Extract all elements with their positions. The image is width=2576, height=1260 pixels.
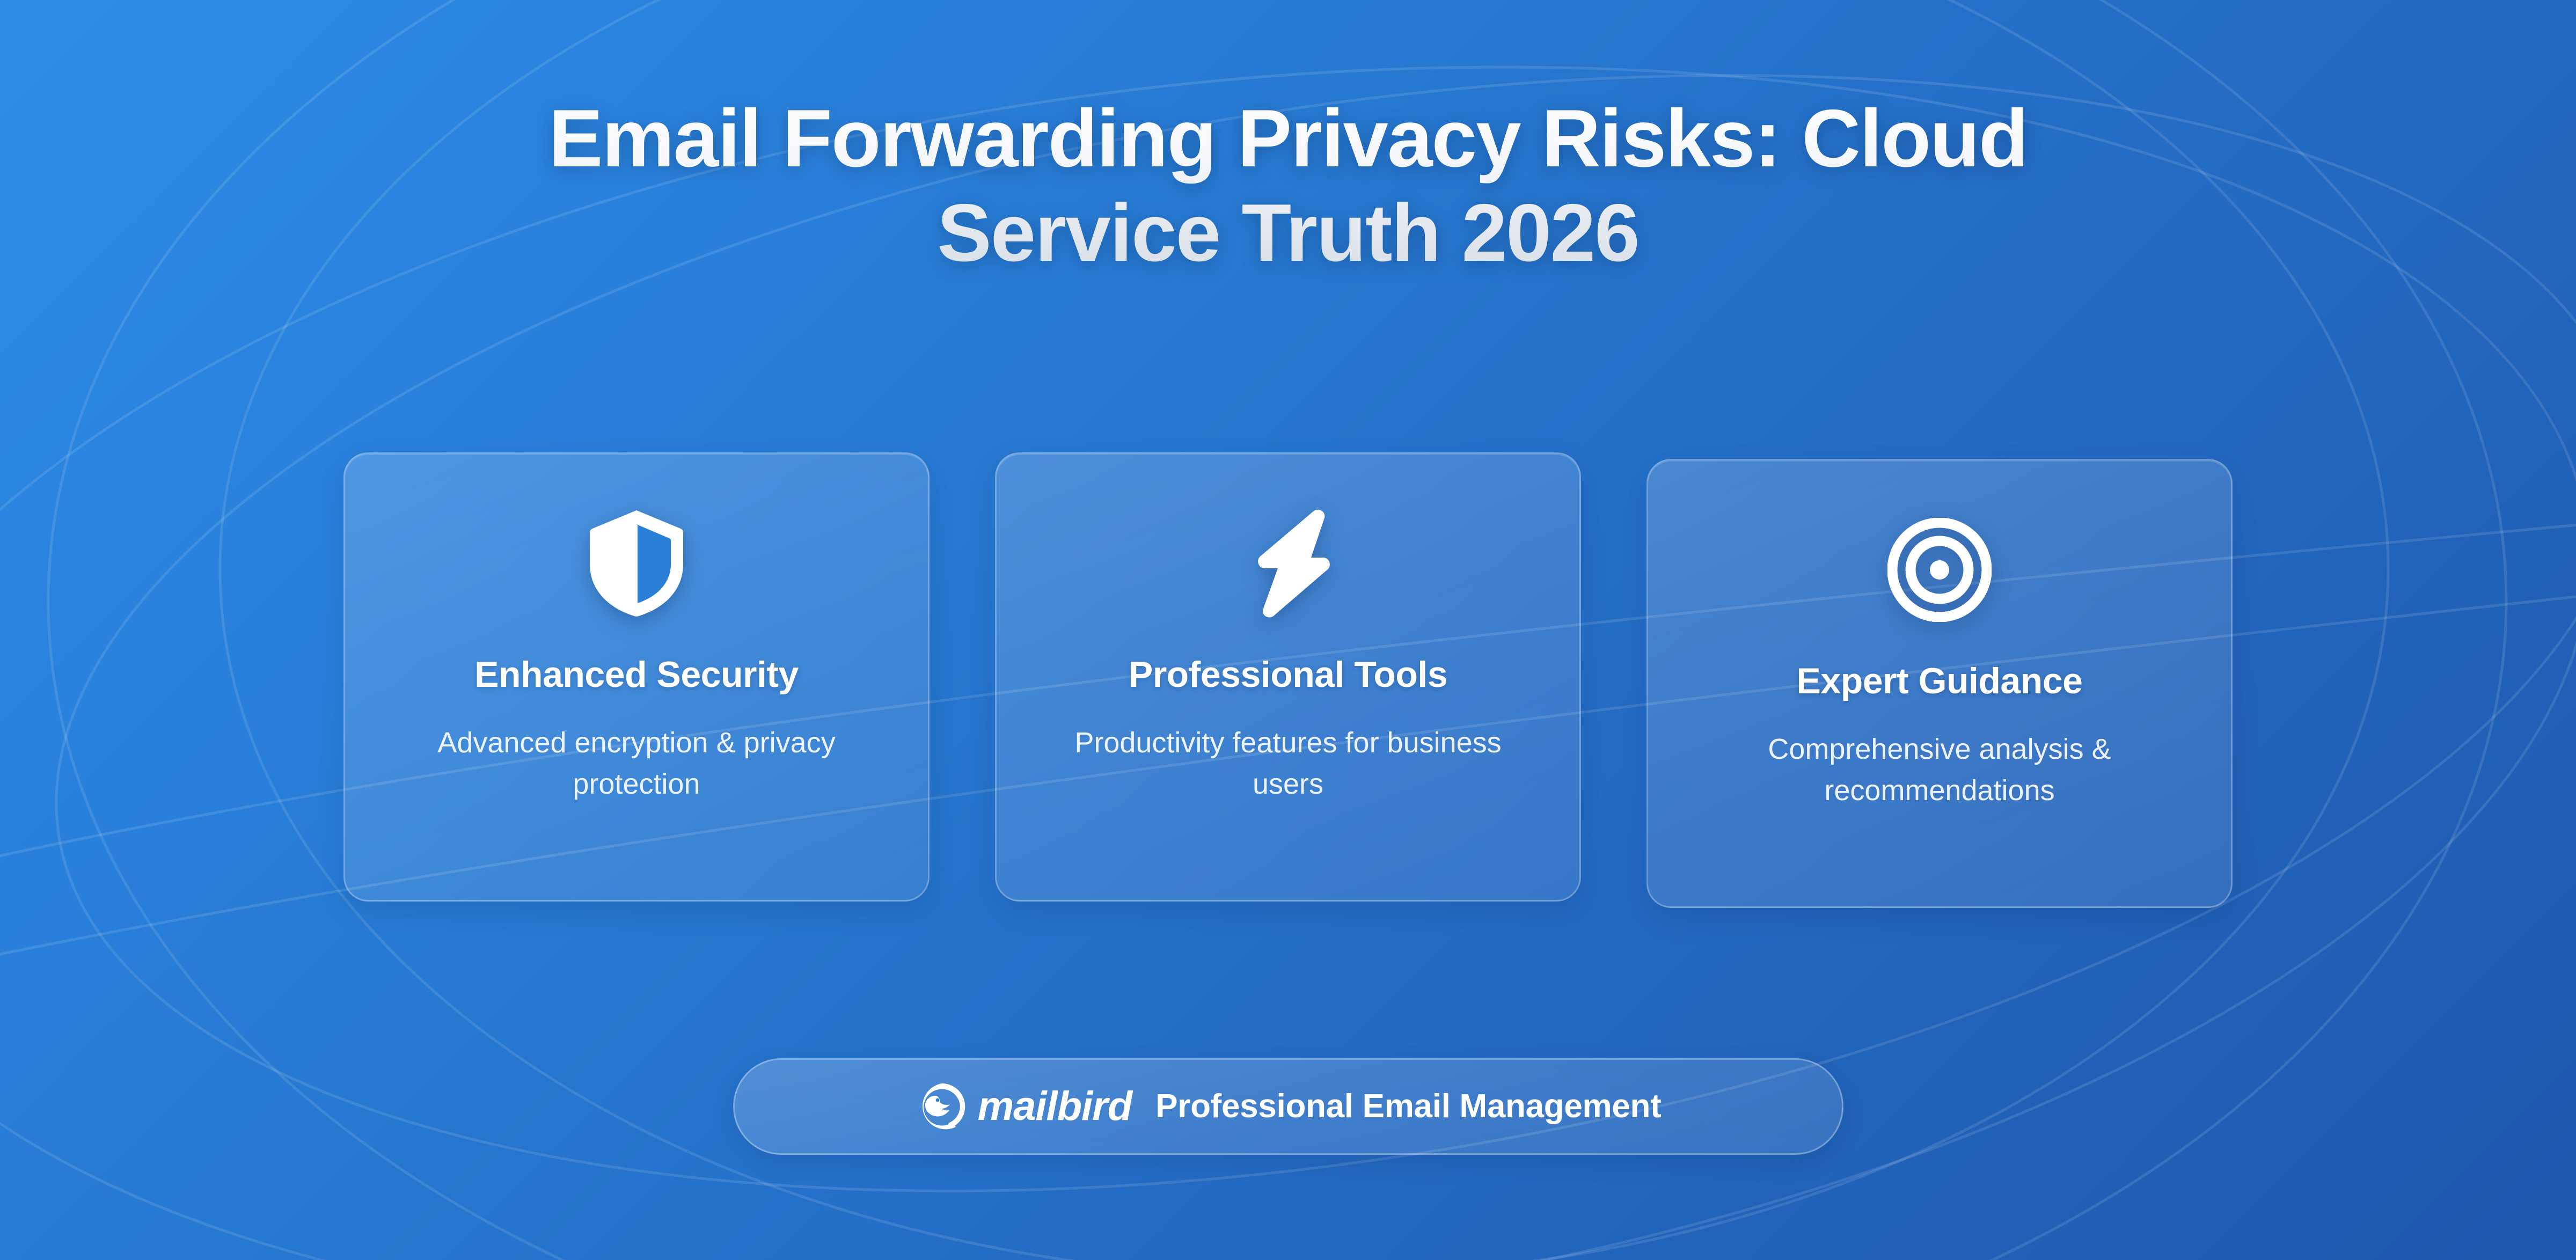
target-icon — [1883, 513, 1996, 627]
mailbird-wordmark: mailbird — [978, 1086, 1132, 1127]
feature-card-professional-tools[interactable]: Professional Tools Productivity features… — [995, 452, 1581, 902]
feature-card-expert-guidance[interactable]: Expert Guidance Comprehensive analysis &… — [1646, 459, 2233, 908]
hero-banner: Email Forwarding Privacy Risks: Cloud Se… — [0, 0, 2576, 1260]
lightning-bolt-icon — [1231, 507, 1345, 620]
page-title: Email Forwarding Privacy Risks: Cloud Se… — [402, 91, 2173, 281]
mailbird-bird-logo-icon — [916, 1080, 968, 1133]
feature-card-enhanced-security[interactable]: Enhanced Security Advanced encryption & … — [343, 452, 930, 902]
brand-badge[interactable]: mailbird Professional Email Management — [733, 1058, 1843, 1155]
feature-card-list: Enhanced Security Advanced encryption & … — [343, 452, 2233, 908]
feature-card-title: Expert Guidance — [1797, 660, 2083, 702]
feature-card-title: Enhanced Security — [474, 654, 799, 695]
feature-card-description: Advanced encryption & privacy protection — [390, 722, 883, 804]
brand-badge-tagline: Professional Email Management — [1155, 1090, 1661, 1123]
feature-card-title: Professional Tools — [1129, 654, 1447, 695]
feature-card-description: Comprehensive analysis & recommendations — [1693, 729, 2186, 811]
feature-card-description: Productivity features for business users — [1041, 722, 1535, 804]
page-title-container: Email Forwarding Privacy Risks: Cloud Se… — [0, 91, 2576, 281]
mailbird-logo-lockup: mailbird — [916, 1080, 1132, 1133]
shield-icon — [580, 507, 693, 620]
